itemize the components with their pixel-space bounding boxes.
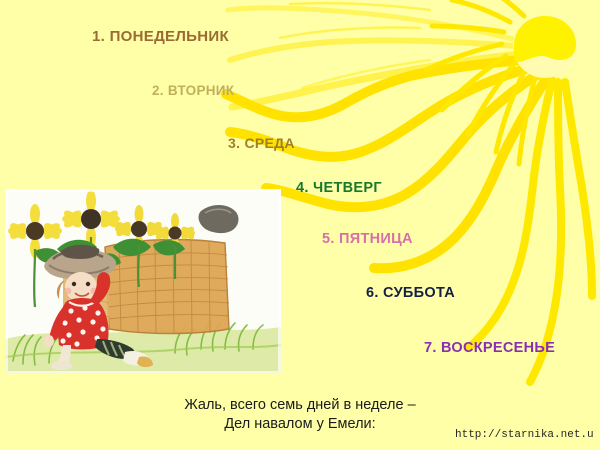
caption-line-1: Жаль, всего семь дней в неделе – [0,396,600,415]
day-item-monday[interactable]: 1. ПОНЕДЕЛЬНИК [92,28,229,45]
sun-halo [513,14,577,78]
day-item-wednesday[interactable]: 3. СРЕДА [228,135,295,151]
day-item-friday[interactable]: 5. ПЯТНИЦА [322,231,413,247]
day-item-sunday[interactable]: 7. ВОСКРЕСЕНЬЕ [424,340,555,356]
source-url-watermark: http://starnika.net.u [455,429,594,441]
day-item-saturday[interactable]: 6. СУББОТА [366,285,455,301]
day-item-thursday[interactable]: 4. ЧЕТВЕРГ [296,180,382,196]
sun-disc [514,16,576,62]
girl-with-sunflowers-illustration [5,189,281,374]
slide-canvas: 1. ПОНЕДЕЛЬНИК 2. ВТОРНИК 3. СРЕДА 4. ЧЕ… [0,0,600,450]
day-item-tuesday[interactable]: 2. ВТОРНИК [152,83,234,98]
